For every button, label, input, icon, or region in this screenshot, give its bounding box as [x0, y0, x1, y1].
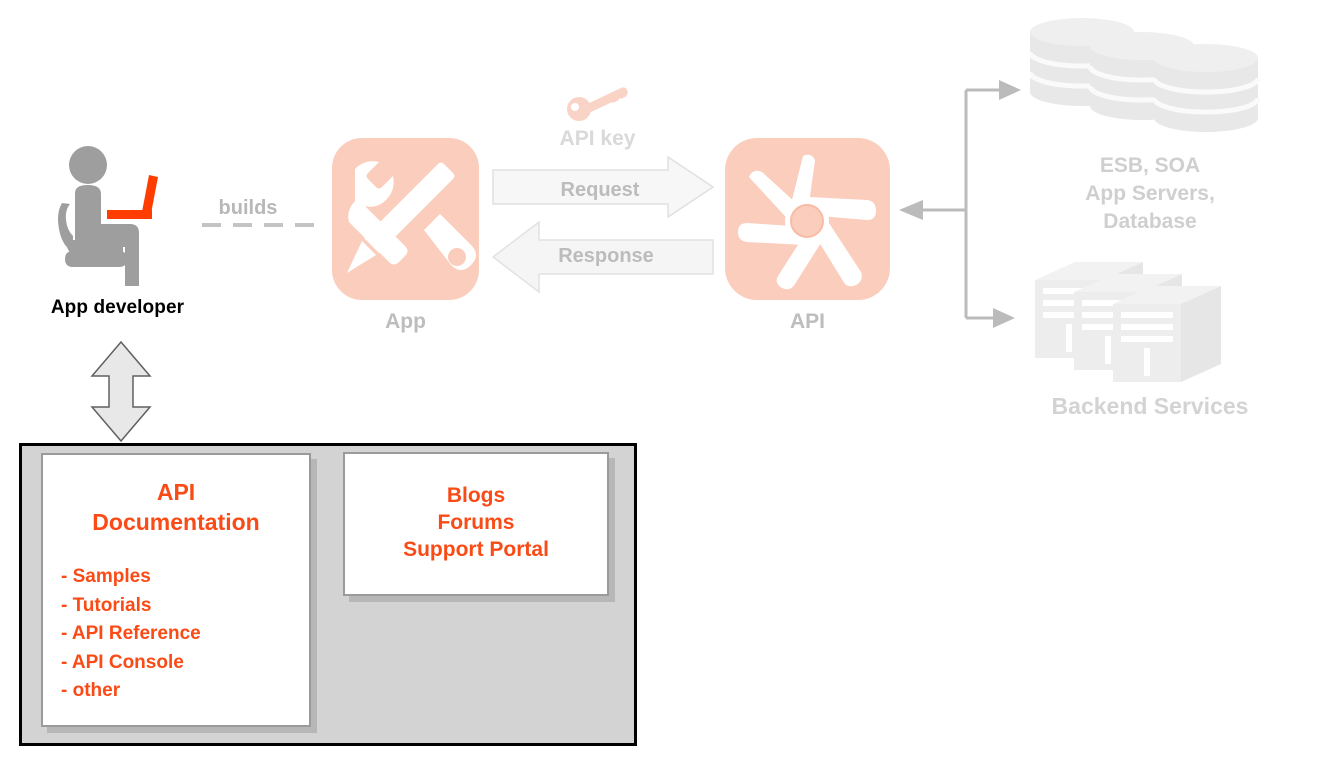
- api-documentation-card[interactable]: API Documentation - Samples - Tutorials …: [41, 453, 311, 727]
- community-line-blogs[interactable]: Blogs: [345, 482, 607, 509]
- response-label: Response: [506, 245, 706, 268]
- builds-label: builds: [193, 197, 303, 220]
- api-tile: [725, 138, 890, 300]
- community-card[interactable]: Blogs Forums Support Portal: [343, 452, 609, 596]
- builds-dashed-connector: [202, 223, 320, 227]
- database-label: ESB, SOA App Servers, Database: [1010, 152, 1290, 236]
- api-documentation-title: API Documentation: [43, 477, 309, 537]
- api-documentation-title-line-2: Documentation: [43, 507, 309, 537]
- list-item[interactable]: - other: [61, 677, 309, 706]
- backend-connector-lines: [895, 70, 1025, 335]
- key-icon: [566, 85, 628, 121]
- list-item[interactable]: - Tutorials: [61, 592, 309, 621]
- api-key-label: API key: [520, 127, 675, 151]
- app-label: App: [332, 310, 479, 334]
- community-line-forums[interactable]: Forums: [345, 509, 607, 536]
- api-documentation-item-list: - Samples - Tutorials - API Reference - …: [61, 563, 309, 706]
- database-label-line-1: ESB, SOA: [1010, 152, 1290, 180]
- database-label-line-3: Database: [1010, 208, 1290, 236]
- backend-services-label: Backend Services: [1000, 393, 1300, 420]
- list-item[interactable]: - API Console: [61, 649, 309, 678]
- diagram-canvas: App developer builds App: [0, 0, 1338, 770]
- database-stack-icon: [1030, 18, 1265, 138]
- server-racks-icon: [1035, 262, 1265, 382]
- database-label-line-2: App Servers,: [1010, 180, 1290, 208]
- community-text: Blogs Forums Support Portal: [345, 482, 607, 563]
- api-label: API: [725, 310, 890, 334]
- api-star-burst-icon: [725, 138, 890, 300]
- seated-developer-with-laptop-icon: [55, 145, 180, 290]
- app-tile: [332, 138, 479, 300]
- list-item[interactable]: - Samples: [61, 563, 309, 592]
- api-documentation-title-line-1: API: [43, 477, 309, 507]
- double-headed-vertical-arrow-icon: [90, 341, 152, 442]
- wrench-and-pencil-tools-icon: [332, 138, 479, 300]
- community-line-support[interactable]: Support Portal: [345, 536, 607, 563]
- request-label: Request: [500, 179, 700, 202]
- list-item[interactable]: - API Reference: [61, 620, 309, 649]
- app-developer-label: App developer: [20, 297, 215, 319]
